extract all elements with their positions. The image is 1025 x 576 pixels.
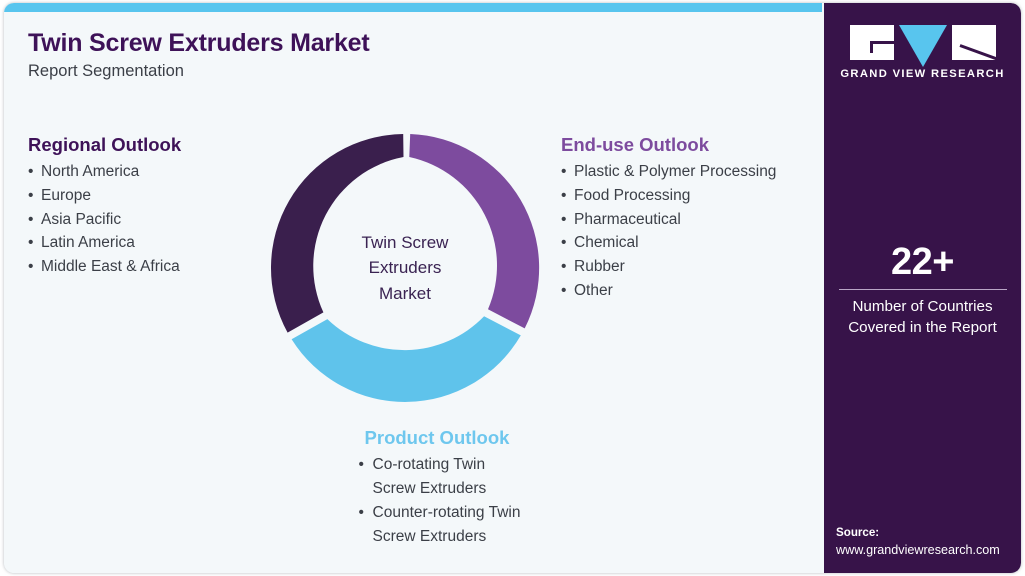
list-item: Pharmaceutical	[561, 208, 823, 232]
donut-svg	[260, 123, 550, 413]
list-item: Plastic & Polymer Processing	[561, 160, 823, 184]
list-item: North America	[28, 160, 258, 184]
segmentation-donut-chart: Twin Screw Extruders Market	[260, 123, 550, 413]
letter-g-block-icon	[850, 25, 894, 60]
source-label: Source:	[836, 524, 1021, 541]
list-item: Europe	[28, 184, 258, 208]
end-use-outlook-heading: End-use Outlook	[561, 134, 823, 156]
stat-caption-line: Covered in the Report	[824, 318, 1021, 339]
regional-outlook-block: Regional Outlook North America Europe As…	[28, 134, 258, 279]
letter-v-triangle-icon	[899, 25, 947, 67]
product-outlook-block: Product Outlook Co-rotating Twin Screw E…	[322, 427, 552, 549]
end-use-outlook-list: Plastic & Polymer Processing Food Proces…	[561, 160, 823, 303]
list-item: Middle East & Africa	[28, 255, 258, 279]
list-item: Counter-rotating Twin Screw Extruders	[359, 501, 521, 549]
product-outlook-list: Co-rotating Twin Screw Extruders Counter…	[354, 453, 521, 549]
main-panel: Twin Screw Extruders Market Report Segme…	[4, 3, 822, 573]
grand-view-research-logo: GRAND VIEW RESEARCH	[824, 25, 1021, 80]
donut-segment-regional	[271, 134, 404, 333]
list-item: Asia Pacific	[28, 208, 258, 232]
top-accent-bar	[4, 3, 822, 12]
letter-r-block-icon	[952, 25, 996, 60]
stat-caption-line: Number of Countries	[824, 297, 1021, 318]
source-url[interactable]: www.grandviewresearch.com	[836, 541, 1021, 559]
donut-segment-product	[292, 316, 521, 402]
list-item: Rubber	[561, 255, 823, 279]
list-item: Food Processing	[561, 184, 823, 208]
stat-value: 22+	[824, 241, 1021, 283]
logo-wordmark: GRAND VIEW RESEARCH	[824, 68, 1021, 80]
list-item: Co-rotating Twin Screw Extruders	[359, 453, 521, 501]
infographic-card: Twin Screw Extruders Market Report Segme…	[4, 3, 1021, 573]
page-title: Twin Screw Extruders Market	[28, 29, 369, 58]
regional-outlook-heading: Regional Outlook	[28, 134, 258, 156]
product-outlook-heading: Product Outlook	[322, 427, 552, 449]
end-use-outlook-block: End-use Outlook Plastic & Polymer Proces…	[561, 134, 823, 303]
regional-outlook-list: North America Europe Asia Pacific Latin …	[28, 160, 258, 279]
donut-segment-end-use	[409, 134, 539, 328]
stat-divider	[839, 289, 1007, 290]
page-subtitle: Report Segmentation	[28, 62, 184, 81]
logo-marks	[824, 25, 1021, 61]
list-item: Latin America	[28, 231, 258, 255]
source-block: Source: www.grandviewresearch.com	[836, 524, 1021, 559]
list-item: Chemical	[561, 231, 823, 255]
list-item: Other	[561, 279, 823, 303]
brand-sidebar: GRAND VIEW RESEARCH 22+ Number of Countr…	[824, 3, 1021, 573]
countries-stat-block: 22+ Number of Countries Covered in the R…	[824, 241, 1021, 338]
